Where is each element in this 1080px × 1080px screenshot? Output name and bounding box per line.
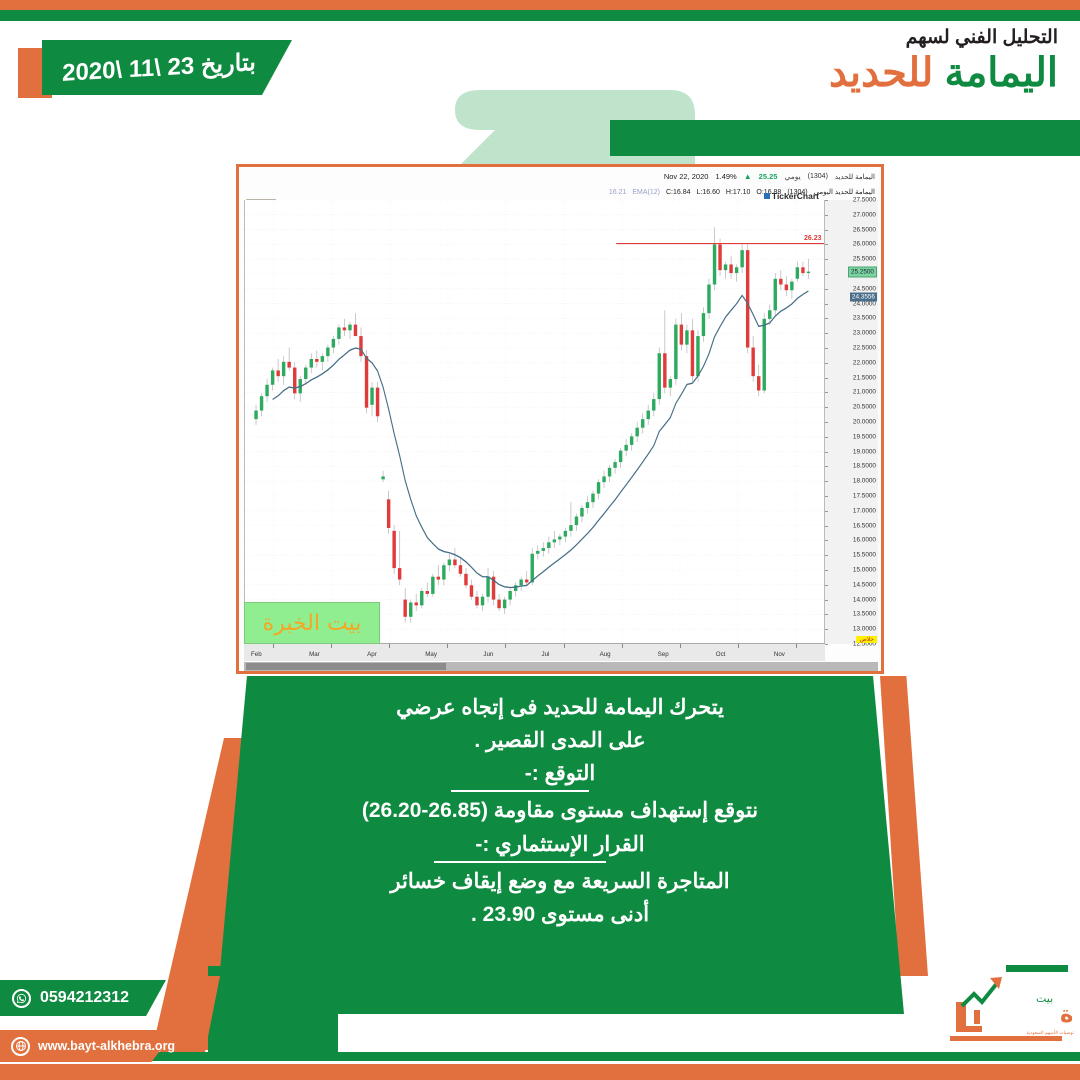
website-badge-content[interactable]: www.bayt-alkhebra.org — [0, 1030, 176, 1062]
time-axis-tickmark — [505, 644, 506, 648]
time-axis-tick: Jul — [541, 651, 549, 658]
title-company-green: اليمامة — [944, 51, 1058, 95]
price-label-last: 25.2500 — [848, 266, 877, 277]
time-axis-tickmark — [389, 644, 390, 648]
price-axis-tickmark — [825, 540, 828, 541]
price-axis-tickmark — [825, 452, 828, 453]
price-axis-tickmark — [825, 496, 828, 497]
analysis-decision-body-2: أدنى مستوى 23.90 . — [443, 903, 677, 927]
date-badge: بتاريخ 23 \11 \2020 — [42, 40, 292, 95]
chart-watermark-label: بيت الخبرة — [263, 611, 362, 636]
chart-horizontal-scrollbar[interactable] — [244, 662, 878, 671]
price-axis-tick: 13.5000 — [853, 611, 876, 618]
price-axis-tickmark — [825, 511, 828, 512]
candlestick-plot-area — [244, 200, 825, 644]
provider-square-icon — [764, 193, 770, 199]
globe-icon — [11, 1037, 30, 1056]
time-axis-tick: Mar — [309, 651, 320, 658]
price-axis-tick: 23.5000 — [853, 315, 876, 322]
ema-value: 16.21 — [609, 189, 627, 196]
time-axis-tickmark — [796, 644, 797, 648]
price-axis-tickmark — [825, 318, 828, 319]
title-company: اليمامة للحديد — [558, 51, 1058, 96]
price-axis-tickmark — [825, 348, 828, 349]
price-axis-tick: 21.0000 — [853, 389, 876, 396]
price-axis-tick: 20.5000 — [853, 404, 876, 411]
price-axis-tickmark — [825, 392, 828, 393]
ohlc-close: C:16.84 — [666, 189, 691, 196]
time-axis-tick: Jun — [483, 651, 493, 658]
time-axis-tick: Sep — [658, 651, 669, 658]
price-label-ema: 24.3556 — [850, 293, 877, 302]
price-axis-tickmark — [825, 585, 828, 586]
time-axis-tickmark — [564, 644, 565, 648]
chart-watermark: بيت الخبرة — [244, 602, 380, 644]
title-subtitle: التحليل الفني لسهم — [558, 28, 1058, 49]
price-axis-tickmark — [825, 378, 828, 379]
quote-change-pct: 1.49% — [715, 172, 736, 181]
price-axis-tick: 25.5000 — [853, 256, 876, 263]
price-axis-tickmark — [825, 259, 828, 260]
price-axis-tick: 16.0000 — [853, 537, 876, 544]
price-axis-tick: 13.0000 — [853, 626, 876, 633]
logo-subtitle: توصيات الأسهم السعودية — [1027, 1030, 1074, 1036]
svg-text:بيت: بيت — [1036, 992, 1053, 1005]
chart-inner: اليمامة للحديد (1304) يومي 25.25 ▲ 1.49%… — [239, 167, 881, 671]
price-axis-tickmark — [825, 614, 828, 615]
price-axis-tick: 22.5000 — [853, 344, 876, 351]
heading-underline-2 — [434, 861, 606, 863]
time-axis-tickmark — [680, 644, 681, 648]
price-axis-tickmark — [825, 304, 828, 305]
price-axis-tickmark — [825, 244, 828, 245]
resistance-price-label: 26.23 — [804, 235, 822, 242]
price-axis-tick: 17.0000 — [853, 507, 876, 514]
price-axis-tickmark — [825, 466, 828, 467]
whatsapp-icon — [12, 989, 31, 1008]
price-axis-tick: 26.5000 — [853, 226, 876, 233]
analysis-heading-forecast: التوقع :- — [497, 762, 623, 786]
price-axis-tickmark — [825, 422, 828, 423]
chart-card: اليمامة للحديد (1304) يومي 25.25 ▲ 1.49%… — [236, 164, 884, 674]
price-axis-tickmark — [825, 644, 828, 645]
price-axis[interactable]: 27.500027.000026.500026.000025.500025.00… — [824, 200, 878, 644]
quote-date: Nov 22, 2020 — [664, 172, 709, 181]
time-axis-tick: May — [425, 651, 437, 658]
price-axis-tickmark — [825, 200, 828, 201]
time-axis-tickmark — [447, 644, 448, 648]
price-axis-tickmark — [825, 526, 828, 527]
page-title: التحليل الفني لسهم اليمامة للحديد — [558, 28, 1058, 96]
candlestick-svg — [245, 200, 825, 644]
price-axis-tick: 16.5000 — [853, 522, 876, 529]
price-axis-tick: 15.5000 — [853, 552, 876, 559]
analysis-forecast-body: نتوقع إستهداف مستوى مقاومة (26.85-26.20) — [334, 799, 786, 823]
chart-quote-row-primary: اليمامة للحديد (1304) يومي 25.25 ▲ 1.49%… — [245, 170, 875, 183]
time-axis-tickmark — [738, 644, 739, 648]
price-axis-tickmark — [825, 555, 828, 556]
price-axis-tickmark — [825, 230, 828, 231]
ohlc-symbol-name: اليمامة للحديد اليومي — [814, 188, 875, 196]
price-axis-tick: 19.0000 — [853, 448, 876, 455]
price-axis-tick: 23.0000 — [853, 330, 876, 337]
analysis-heading-decision: القرار الإستثماري :- — [447, 833, 672, 857]
title-company-orange: للحديد — [829, 51, 933, 95]
quote-symbol-name: اليمامة للحديد — [835, 173, 875, 181]
ema-label: EMA(12) — [632, 189, 660, 196]
price-axis-tick: 17.5000 — [853, 492, 876, 499]
price-axis-bottom-label[interactable]: خلاص — [856, 636, 877, 643]
quote-symbol-code: (1304) — [808, 173, 828, 180]
price-axis-tick: 24.5000 — [853, 285, 876, 292]
price-axis-tick: 20.0000 — [853, 419, 876, 426]
price-axis-tickmark — [825, 629, 828, 630]
header-green-band — [610, 120, 1080, 156]
top-orange-bar — [0, 0, 1080, 10]
ohlc-high: H:17.10 — [726, 189, 751, 196]
price-axis-tick: 15.0000 — [853, 567, 876, 574]
analysis-line-2: على المدى القصير . — [446, 729, 673, 753]
price-axis-tickmark — [825, 363, 828, 364]
bottom-orange-bar — [0, 1064, 1080, 1080]
quote-timeframe: يومي — [784, 172, 800, 181]
price-axis-tick: 18.5000 — [853, 463, 876, 470]
time-axis-tick: Aug — [600, 651, 611, 658]
price-axis-tickmark — [825, 437, 828, 438]
price-axis-tick: 27.0000 — [853, 211, 876, 218]
analysis-panel: يتحرك اليمامة للحديد فى إتجاه عرضي على ا… — [216, 676, 904, 1014]
footer-green-block — [208, 966, 338, 1052]
time-axis-tick: Feb — [251, 651, 262, 658]
time-axis-tick: Apr — [367, 651, 377, 658]
price-axis-tick: 27.5000 — [853, 197, 876, 204]
price-axis-tick: 19.5000 — [853, 433, 876, 440]
price-axis-tickmark — [825, 289, 828, 290]
analysis-line-1: يتحرك اليمامة للحديد فى إتجاه عرضي — [368, 696, 752, 720]
heading-underline-1 — [451, 790, 589, 792]
date-badge-label: بتاريخ 23 \11 \2020 — [42, 33, 292, 102]
price-axis-tickmark — [825, 600, 828, 601]
website-url: www.bayt-alkhebra.org — [38, 1039, 175, 1053]
time-axis-tick: Oct — [716, 651, 726, 658]
time-axis: FebMarAprMayJunJulAugSepOctNov — [244, 643, 825, 661]
price-axis-tick: 14.5000 — [853, 581, 876, 588]
time-axis-tickmark — [622, 644, 623, 648]
whatsapp-number: 0594212312 — [40, 989, 129, 1007]
price-axis-tickmark — [825, 407, 828, 408]
price-axis-tick: 22.0000 — [853, 359, 876, 366]
svg-text:الخبرة: الخبرة — [1060, 1002, 1072, 1028]
analysis-decision-body-1: المتاجرة السريعة مع وضع إيقاف خسائر — [362, 870, 757, 894]
price-axis-tick: 18.0000 — [853, 478, 876, 485]
time-axis-tickmark — [273, 644, 274, 648]
time-axis-tickmark — [331, 644, 332, 648]
price-axis-tick: 21.5000 — [853, 374, 876, 381]
scrollbar-thumb[interactable] — [246, 663, 446, 670]
top-green-bar — [0, 10, 1080, 21]
price-axis-tickmark — [825, 215, 828, 216]
ohlc-low: L:16.60 — [697, 189, 720, 196]
price-axis-tickmark — [825, 274, 828, 275]
price-axis-tickmark — [825, 570, 828, 571]
price-axis-tick: 26.0000 — [853, 241, 876, 248]
whatsapp-badge-content[interactable]: 0594212312 — [0, 980, 166, 1016]
time-axis-tick: Nov — [774, 651, 785, 658]
price-axis-tick: 14.0000 — [853, 596, 876, 603]
price-axis-tickmark — [825, 481, 828, 482]
price-axis-tickmark — [825, 333, 828, 334]
up-arrow-icon: ▲ — [744, 172, 752, 181]
quote-last-price: 25.25 — [759, 172, 778, 181]
